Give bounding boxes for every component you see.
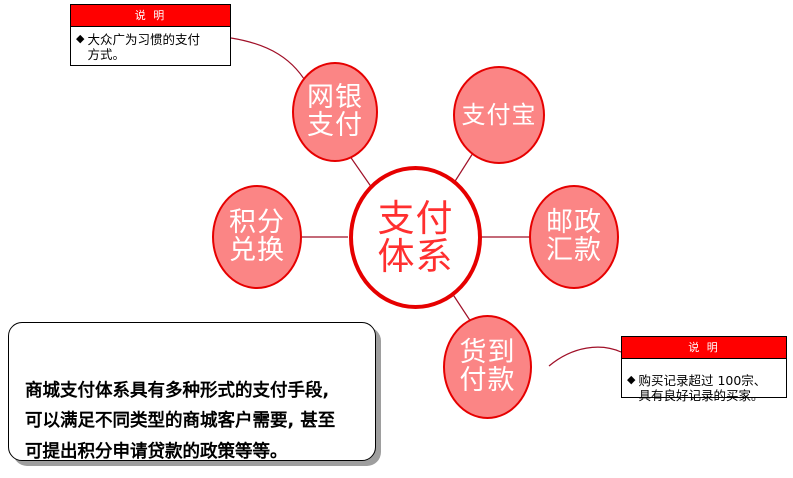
callout-cash-on-delivery-body: ◆ 购买记录超过 100宗、 具有良好记录的买家。 xyxy=(622,359,786,408)
node-label-online-banking-payment: 网银 支付 xyxy=(307,84,363,139)
bullet-icon: ◆ xyxy=(76,32,84,46)
bullet-icon: ◆ xyxy=(627,373,635,387)
callout-online-banking-text: 大众广为习惯的支付 方式。 xyxy=(87,32,200,63)
callout-cash-on-delivery: 说 明 ◆ 购买记录超过 100宗、 具有良好记录的买家。 xyxy=(621,336,787,398)
leader-callout-online-banking xyxy=(231,38,310,89)
node-online-banking-payment[interactable]: 网银 支付 xyxy=(292,62,378,162)
node-cash-on-delivery[interactable]: 货到 付款 xyxy=(443,315,532,419)
node-points-redemption[interactable]: 积分 兑换 xyxy=(212,185,302,289)
node-label-alipay: 支付宝 xyxy=(462,103,537,127)
node-payment-system[interactable]: 支付 体系 xyxy=(349,166,482,309)
callout-online-banking-header: 说 明 xyxy=(71,5,230,27)
node-postal-remittance[interactable]: 邮政 汇款 xyxy=(529,185,619,289)
node-label-cash-on-delivery: 货到 付款 xyxy=(460,339,516,394)
diagram-canvas: 网银 支付 支付宝 邮政 汇款 货到 付款 积分 兑换 支付 体系 说 明 ◆ … xyxy=(0,0,793,478)
node-label-payment-system: 支付 体系 xyxy=(378,200,454,275)
callout-cash-on-delivery-header: 说 明 xyxy=(622,337,786,359)
node-label-postal-remittance: 邮政 汇款 xyxy=(546,209,602,264)
callout-cash-on-delivery-text: 购买记录超过 100宗、 具有良好记录的买家。 xyxy=(638,373,766,404)
payment-system-description: 商城支付体系具有多种形式的支付手段, 可以满足不同类型的商城客户需要, 甚至 可… xyxy=(8,322,376,461)
leader-callout-cash-on-delivery xyxy=(549,347,621,366)
node-alipay[interactable]: 支付宝 xyxy=(453,66,545,164)
callout-online-banking: 说 明 ◆ 大众广为习惯的支付 方式。 xyxy=(70,4,231,66)
description-text: 商城支付体系具有多种形式的支付手段, 可以满足不同类型的商城客户需要, 甚至 可… xyxy=(25,381,335,462)
callout-online-banking-body: ◆ 大众广为习惯的支付 方式。 xyxy=(71,27,230,67)
node-label-points-redemption: 积分 兑换 xyxy=(229,209,285,264)
